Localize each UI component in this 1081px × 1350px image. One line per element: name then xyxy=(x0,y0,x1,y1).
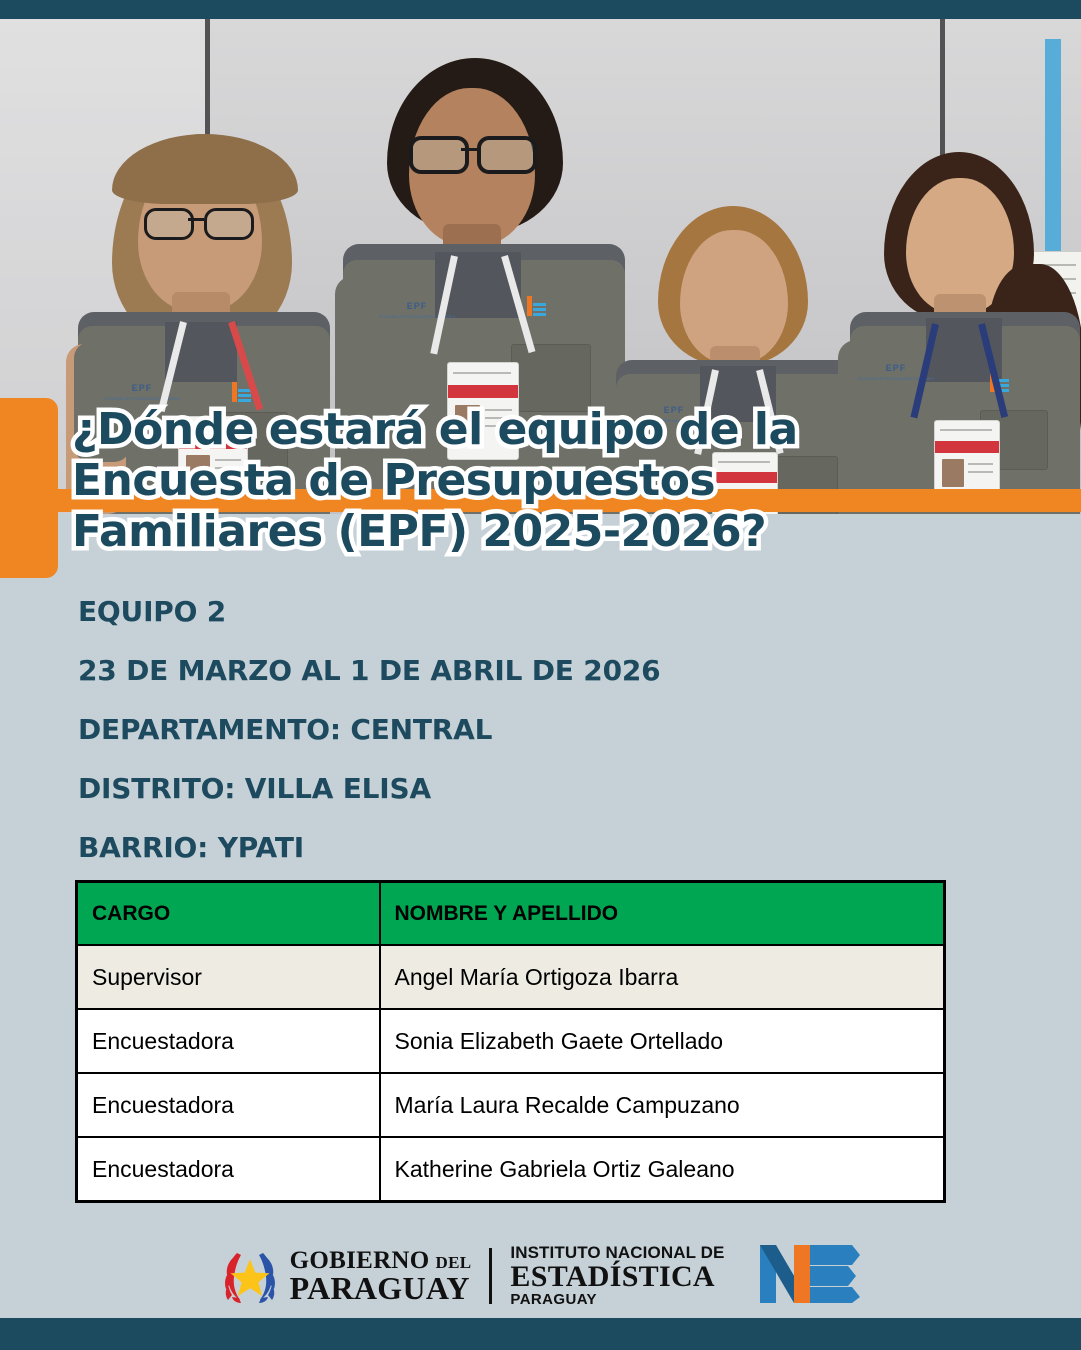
gobierno-del-paraguay-logo: GOBIERNODEL PARAGUAY xyxy=(219,1247,472,1305)
title-line-1: ¿Dónde estará el equipo de la xyxy=(72,404,1032,455)
page-title: ¿Dónde estará el equipo de la Encuesta d… xyxy=(72,404,1032,557)
uniform-epf-sub: Encuesta de Presupuestos Familiares xyxy=(94,396,190,401)
cell-nombre: María Laura Recalde Campuzano xyxy=(380,1073,945,1137)
cell-cargo: Encuestadora xyxy=(77,1073,380,1137)
ine-line-3: PARAGUAY xyxy=(510,1292,724,1307)
uniform-epf-sub: Encuesta de Presupuestos Familiares xyxy=(369,314,465,319)
paraguay-coat-of-arms-icon xyxy=(219,1247,281,1305)
footer-logos: GOBIERNODEL PARAGUAY INSTITUTO NACIONAL … xyxy=(0,1236,1081,1316)
del-text: DEL xyxy=(436,1253,472,1272)
orange-accent-block xyxy=(0,398,58,578)
top-accent-bar xyxy=(0,0,1081,19)
assignment-details: EQUIPO 2 23 DE MARZO AL 1 DE ABRIL DE 20… xyxy=(78,598,978,893)
cell-cargo: Encuestadora xyxy=(77,1009,380,1073)
ine-line-2: ESTADÍSTICA xyxy=(510,1262,724,1293)
detail-department: DEPARTAMENTO: CENTRAL xyxy=(78,716,978,744)
cell-nombre: Katherine Gabriela Ortiz Galeano xyxy=(380,1137,945,1202)
cell-nombre: Angel María Ortigoza Ibarra xyxy=(380,945,945,1009)
table-row: Encuestadora María Laura Recalde Campuza… xyxy=(77,1073,945,1137)
table-header-row: CARGO NOMBRE Y APELLIDO xyxy=(77,882,945,946)
detail-neighborhood: BARRIO: YPATI xyxy=(78,834,978,862)
table-row: Encuestadora Katherine Gabriela Ortiz Ga… xyxy=(77,1137,945,1202)
detail-team: EQUIPO 2 xyxy=(78,598,978,626)
uniform-epf-text: EPF xyxy=(866,364,926,373)
detail-district: DISTRITO: VILLA ELISA xyxy=(78,775,978,803)
paraguay-text: PARAGUAY xyxy=(290,1273,472,1304)
uniform-epf-text: EPF xyxy=(387,302,447,311)
gobierno-wordmark: GOBIERNODEL PARAGUAY xyxy=(290,1249,472,1304)
bottom-accent-bar xyxy=(0,1318,1081,1350)
poster-canvas: EPF Encuesta de Presupuestos Familiares xyxy=(0,0,1081,1350)
column-header-cargo: CARGO xyxy=(77,882,380,946)
cell-nombre: Sonia Elizabeth Gaete Ortellado xyxy=(380,1009,945,1073)
badge-role-band xyxy=(448,385,518,398)
title-line-3: Familiares (EPF) 2025-2026? xyxy=(72,506,1032,557)
cell-cargo: Supervisor xyxy=(77,945,380,1009)
footer-divider xyxy=(489,1248,492,1304)
ine-logo-icon xyxy=(758,1241,862,1312)
column-header-nombre: NOMBRE Y APELLIDO xyxy=(380,882,945,946)
title-line-2: Encuesta de Presupuestos xyxy=(72,455,1032,506)
cell-cargo: Encuestadora xyxy=(77,1137,380,1202)
instituto-nacional-estadistica-wordmark: INSTITUTO NACIONAL DE ESTADÍSTICA PARAGU… xyxy=(510,1244,724,1307)
uniform-ine-logo xyxy=(527,296,546,316)
staff-table: CARGO NOMBRE Y APELLIDO Supervisor Angel… xyxy=(75,880,946,1203)
table-row: Encuestadora Sonia Elizabeth Gaete Ortel… xyxy=(77,1009,945,1073)
table-row: Supervisor Angel María Ortigoza Ibarra xyxy=(77,945,945,1009)
detail-dates: 23 DE MARZO AL 1 DE ABRIL DE 2026 xyxy=(78,657,978,685)
eyeglasses xyxy=(409,136,537,170)
uniform-epf-sub: Encuesta de Presupuestos Familiares xyxy=(848,376,944,381)
eyeglasses xyxy=(144,208,256,238)
